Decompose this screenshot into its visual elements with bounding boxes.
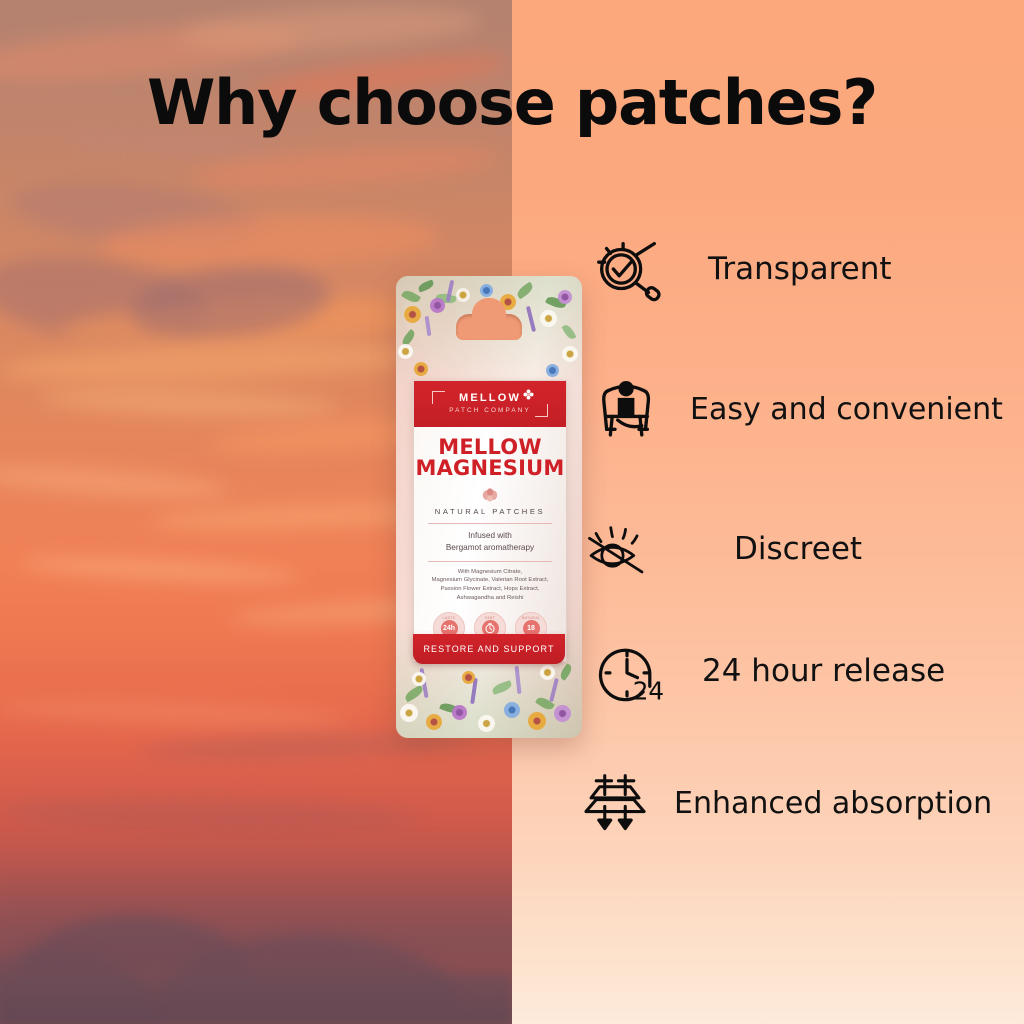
feature-label: 24 hour release [702, 653, 945, 689]
feature-label: Easy and convenient [690, 392, 1003, 427]
infused-line1: Infused with [414, 530, 566, 542]
brand-subtitle: PATCH COMPANY [449, 408, 531, 414]
package-body: MELLOW PATCH COMPANY MELLOW MAGNESIUM [396, 276, 582, 738]
feature-label: Enhanced absorption [674, 786, 992, 821]
product-footer-banner: RESTORE AND SUPPORT [413, 634, 565, 664]
badge-top-text: LASTS [434, 616, 464, 620]
badge-top-text: NATURAL [516, 616, 546, 620]
feature-24-hour-release: 24 24 hour release [586, 630, 945, 712]
flower-mark-icon [480, 488, 500, 504]
divider [428, 523, 552, 524]
clock-24-icon: 24 [586, 630, 668, 712]
product-package: MELLOW PATCH COMPANY MELLOW MAGNESIUM [396, 276, 582, 738]
poster-canvas: Why choose patches? [0, 0, 1024, 1024]
feature-transparent: Transparent [586, 228, 892, 310]
feature-label: Transparent [708, 251, 892, 287]
product-name-line2: MAGNESIUM [414, 458, 566, 479]
layers-arrows-down-icon [574, 762, 656, 844]
ingredients-line2: Magnesium Glycinate, Valerian Root Extra… [414, 576, 566, 585]
corner-bracket-icon [535, 404, 548, 417]
magnifier-check-icon [586, 228, 668, 310]
ingredients-line4: Ashwagandha and Reishi [414, 594, 566, 603]
divider [428, 561, 552, 562]
ingredients-line1: With Magnesium Citrate, [414, 568, 566, 577]
brand-name: MELLOW [459, 393, 521, 404]
product-label: MELLOW PATCH COMPANY MELLOW MAGNESIUM [413, 380, 567, 662]
feature-discreet: Discreet [578, 508, 862, 590]
ingredients-line3: Passion Flower Extract, Hops Extract, [414, 585, 566, 594]
person-relaxing-chair-icon [586, 368, 668, 450]
feature-label: Discreet [734, 531, 862, 567]
feature-enhanced-absorption: Enhanced absorption [574, 762, 992, 844]
eye-slash-icon [578, 508, 660, 590]
brand-banner: MELLOW PATCH COMPANY [414, 381, 566, 427]
corner-bracket-icon [432, 391, 445, 404]
product-name-line1: MELLOW [414, 437, 566, 458]
product-tagline: NATURAL PATCHES [414, 507, 566, 516]
badge-top-text: FAST [475, 616, 505, 620]
hang-hole [456, 314, 522, 340]
flower-icon [523, 389, 534, 400]
infused-line2: Bergamot aromatherapy [414, 542, 566, 554]
page-title: Why choose patches? [0, 66, 1024, 139]
feature-easy-convenient: Easy and convenient [586, 368, 1003, 450]
svg-text:24: 24 [633, 677, 664, 706]
